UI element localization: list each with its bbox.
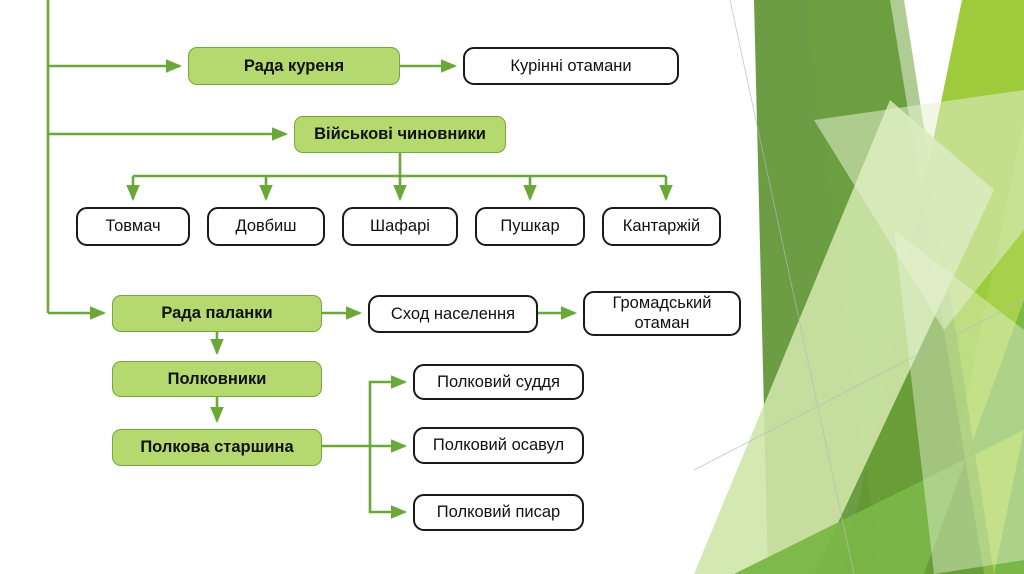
node-label: Пушкар bbox=[500, 217, 559, 235]
node-label: Рада куреня bbox=[244, 57, 344, 75]
node-polkovyi-suddya[interactable]: Полковий суддя bbox=[413, 364, 584, 400]
node-rada-kurenya[interactable]: Рада куреня bbox=[188, 47, 400, 85]
connector-layer bbox=[0, 0, 1024, 574]
node-polkova-starshyna[interactable]: Полкова старшина bbox=[112, 429, 322, 466]
node-tovmach[interactable]: Товмач bbox=[76, 207, 190, 246]
node-label: Полкова старшина bbox=[140, 438, 293, 456]
node-pushkar[interactable]: Пушкар bbox=[475, 207, 585, 246]
node-polkovnyky[interactable]: Полковники bbox=[112, 361, 322, 397]
node-hromadskyi-otaman[interactable]: Громадський отаман bbox=[583, 291, 741, 336]
node-label: Довбиш bbox=[235, 217, 296, 235]
node-label: Курінні отамани bbox=[510, 57, 631, 75]
node-dovbysh[interactable]: Довбиш bbox=[207, 207, 325, 246]
node-kurinni-otamany[interactable]: Курінні отамани bbox=[463, 47, 679, 85]
node-label: Сход населення bbox=[391, 305, 515, 323]
node-kantarzhii[interactable]: Кантаржій bbox=[602, 207, 721, 246]
node-label: Полковий суддя bbox=[437, 373, 560, 391]
connector-starshyna-pysar bbox=[370, 446, 405, 512]
node-label: Військові чиновники bbox=[314, 125, 486, 143]
slide-canvas: Рада куреня Курінні отамани Військові чи… bbox=[0, 0, 1024, 574]
node-rada-palanky[interactable]: Рада паланки bbox=[112, 295, 322, 332]
node-polkovyi-osavul[interactable]: Полковий осавул bbox=[413, 427, 584, 464]
node-label: Полковники bbox=[168, 370, 267, 388]
node-label: Полковий писар bbox=[437, 503, 560, 521]
node-label: Кантаржій bbox=[623, 217, 701, 235]
node-label: Товмач bbox=[105, 217, 160, 235]
node-label: Полковий осавул bbox=[433, 436, 564, 454]
node-polkovyi-pysar[interactable]: Полковий писар bbox=[413, 494, 584, 531]
node-skhod-naselennya[interactable]: Сход населення bbox=[368, 295, 538, 333]
node-label: Шафарі bbox=[370, 217, 430, 235]
node-shafari[interactable]: Шафарі bbox=[342, 207, 458, 246]
node-label: Громадський отаман bbox=[585, 294, 739, 333]
node-label: Рада паланки bbox=[161, 304, 272, 322]
node-viiskovi-chynovnyky[interactable]: Військові чиновники bbox=[294, 116, 506, 153]
connector-starshyna-suddya bbox=[370, 382, 405, 446]
